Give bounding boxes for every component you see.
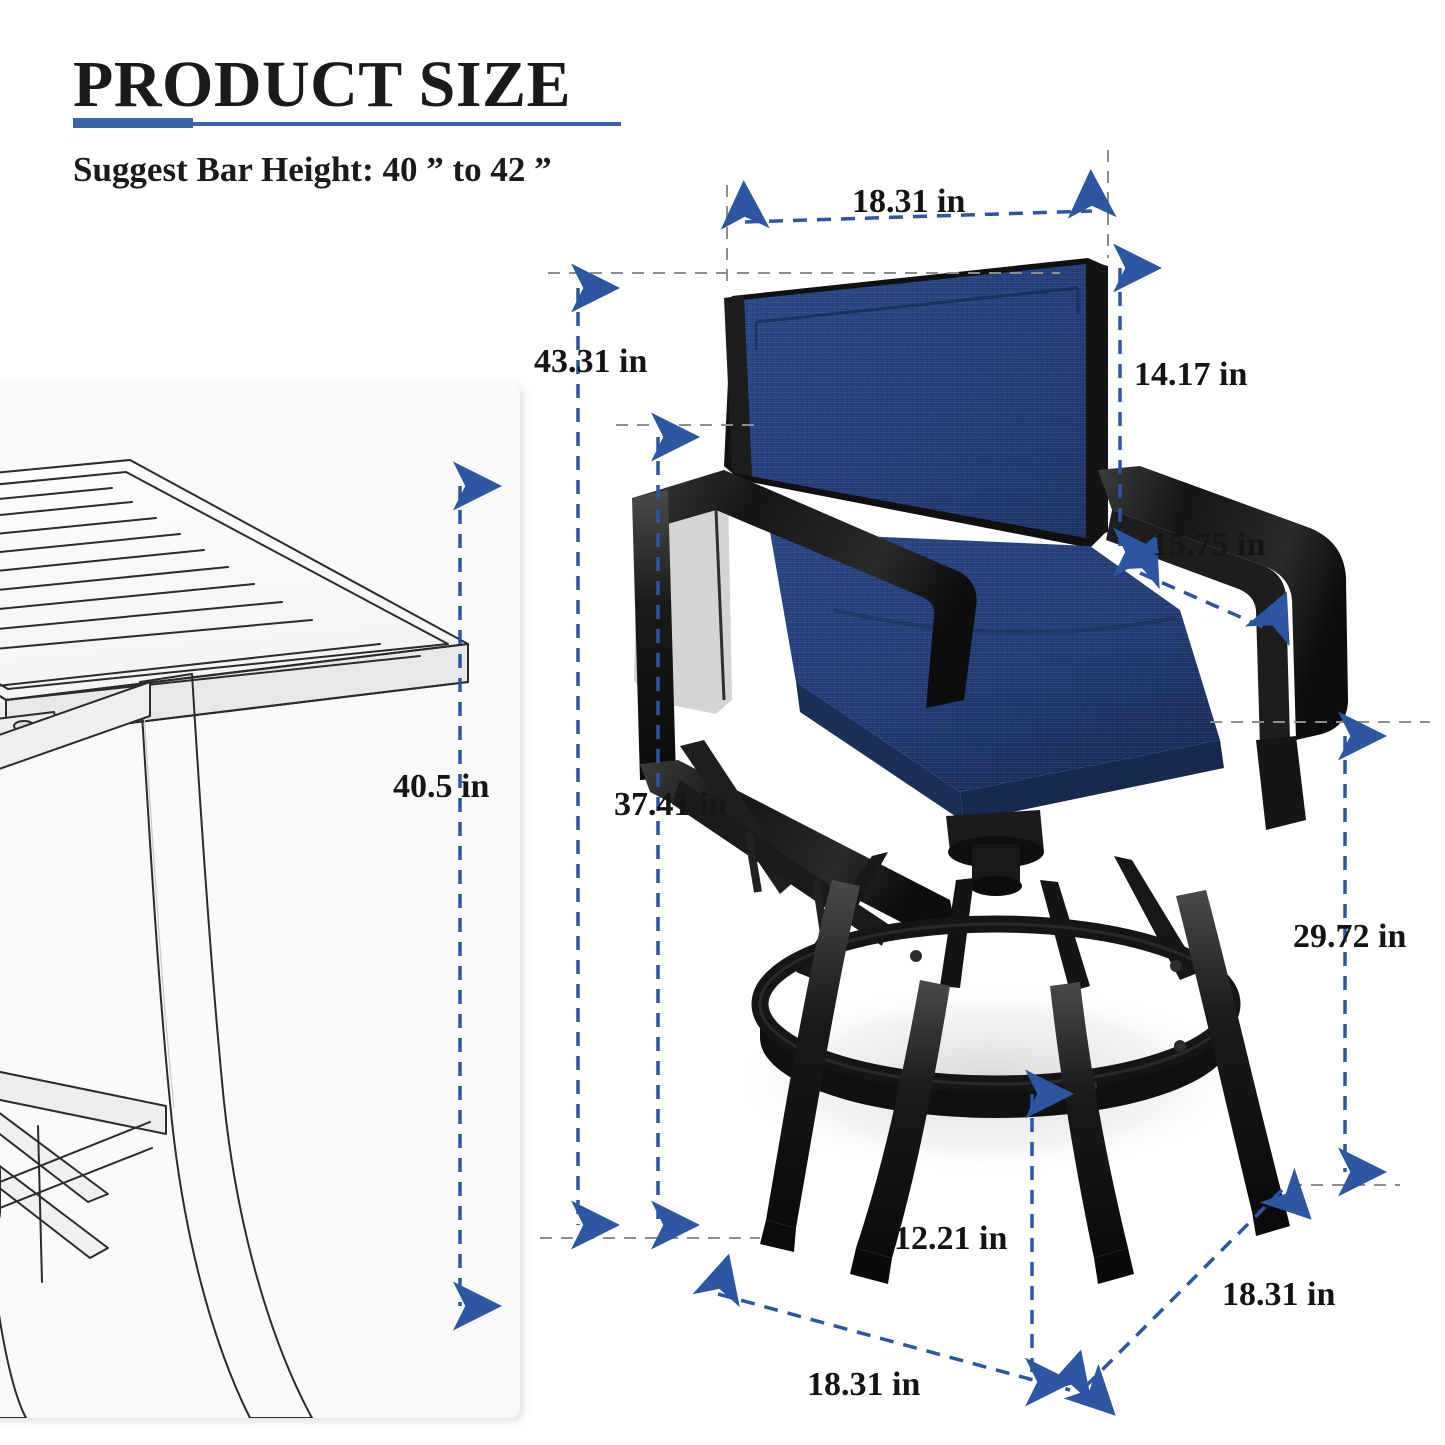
dimension-label-arm-height: 37.41 in bbox=[614, 788, 727, 822]
dimension-label-table-height: 40.5 in bbox=[393, 770, 489, 804]
dimension-label-overall-height: 43.31 in bbox=[534, 345, 647, 379]
dimension-label-backrest-height: 14.17 in bbox=[1134, 358, 1247, 392]
dimension-label-seat-depth: 15.75 in bbox=[1152, 528, 1265, 562]
product-size-diagram: PRODUCT SIZE Suggest Bar Height: 40 ” to… bbox=[0, 0, 1445, 1445]
dimension-label-back-width: 18.31 in bbox=[852, 185, 965, 219]
table-illustration-panel bbox=[0, 382, 520, 1418]
dimension-label-base-width: 18.31 in bbox=[807, 1368, 920, 1402]
swivel-bar-stool-photo bbox=[620, 180, 1380, 1300]
title-underline-accent bbox=[73, 118, 193, 128]
dimension-label-base-depth: 18.31 in bbox=[1222, 1278, 1335, 1312]
page-title: PRODUCT SIZE bbox=[73, 52, 571, 118]
bar-table-line-drawing bbox=[0, 382, 520, 1418]
dimension-label-seat-height: 29.72 in bbox=[1293, 920, 1406, 954]
dimension-label-footring-height: 12.21 in bbox=[894, 1222, 1007, 1256]
page-subtitle: Suggest Bar Height: 40 ” to 42 ” bbox=[73, 150, 552, 190]
